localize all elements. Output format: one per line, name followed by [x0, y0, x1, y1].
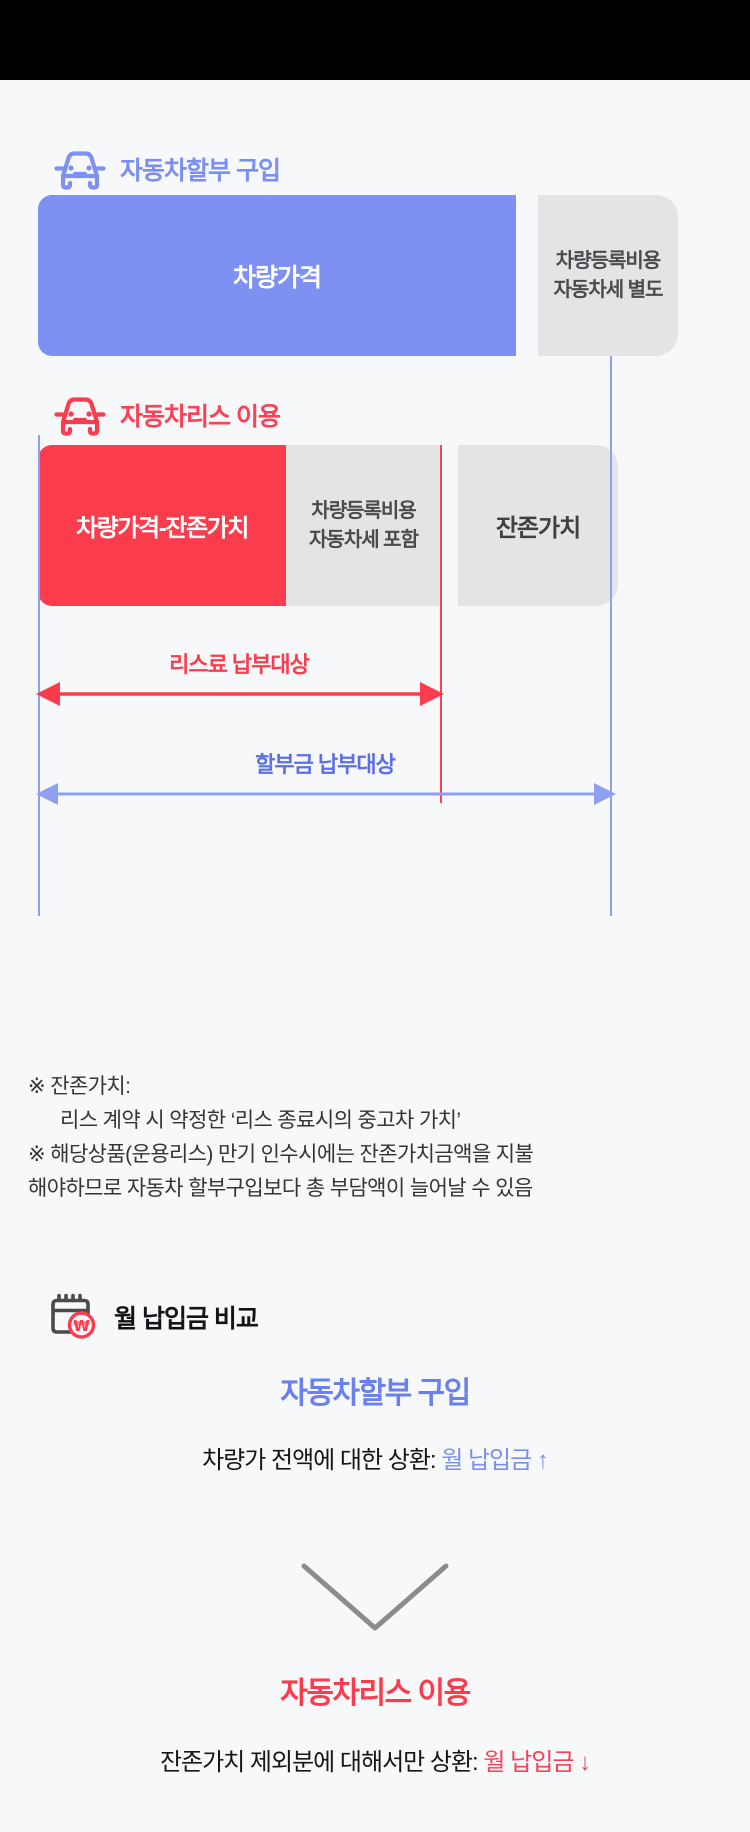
chevron-down-icon [296, 1558, 454, 1638]
car-front-icon [48, 392, 110, 438]
car-headlight-left-icon [68, 411, 73, 416]
bar-registration-tax-separate: 차량등록비용 자동차세 별도 [538, 195, 678, 356]
note-maturity-line1: ※ 해당상품(운용리스) 만기 인수시에는 잔존가치금액을 지불 [28, 1138, 728, 1172]
section-header-lease: 자동차리스 이용 [48, 392, 280, 438]
car-headlight-right-icon [86, 411, 91, 416]
bar-registration-tax-separate-line1: 차량등록비용 [556, 248, 660, 274]
infographic-canvas: 자동차할부 구입 차량가격 차량등록비용 자동차세 별도 [0, 80, 750, 1832]
monthly-installment-prefix: 차량가 전액에 대한 상환: [202, 1447, 441, 1474]
bar-residual-value: 잔존가치 [458, 445, 618, 606]
section-title-lease: 자동차리스 이용 [120, 397, 280, 433]
range-arrow-installment-payment [34, 777, 618, 811]
bar-residual-value-label: 잔존가치 [496, 508, 580, 543]
range-label-installment-payment: 할부금 납부대상 [0, 747, 650, 779]
won-symbol-icon: ₩ [73, 1317, 90, 1335]
footnotes: ※ 잔존가치: 리스 계약 시 약정한 ‘리스 종료시의 중고차 가치’ ※ 해… [28, 1070, 728, 1206]
bar-vehicle-price-label: 차량가격 [233, 258, 321, 294]
monthly-lease-title: 자동차리스 이용 [0, 1668, 750, 1712]
monthly-lease-prefix: 잔존가치 제외분에 대해서만 상환: [160, 1749, 483, 1776]
calendar-won-icon: ₩ [48, 1292, 100, 1342]
monthly-lease-accent: 월 납입금 ↓ [483, 1749, 590, 1776]
monthly-installment-title: 자동차할부 구입 [0, 1368, 750, 1412]
car-headlight-left-icon [68, 165, 73, 170]
monthly-installment-accent: 월 납입금 ↑ [441, 1447, 548, 1474]
car-headlight-right-icon [86, 165, 91, 170]
bar-price-minus-residual-label: 차량가격-잔존가치 [76, 508, 248, 543]
monthly-lease-line: 잔존가치 제외분에 대해서만 상환: 월 납입금 ↓ [0, 1742, 750, 1777]
monthly-installment-line: 차량가 전액에 대한 상환: 월 납입금 ↑ [0, 1440, 750, 1475]
car-front-icon [48, 146, 110, 192]
bar-registration-tax-included-line2: 자동차세 포함 [309, 527, 418, 553]
section-header-monthly-compare: ₩ 월 납입금 비교 [48, 1292, 258, 1342]
bar-vehicle-price: 차량가격 [38, 195, 516, 356]
section-title-installment: 자동차할부 구입 [120, 151, 280, 187]
monthly-compare-title: 월 납입금 비교 [114, 1299, 258, 1335]
top-black-bar [0, 0, 750, 80]
bar-registration-tax-included-line1: 차량등록비용 [311, 498, 415, 524]
guide-line-right-blue [610, 356, 612, 916]
range-arrow-lease-payment [34, 677, 446, 711]
note-maturity-line2: 해야하므로 자동차 할부구입보다 총 부담액이 늘어날 수 있음 [28, 1172, 728, 1206]
bar-registration-tax-separate-line2: 자동차세 별도 [554, 277, 663, 303]
note-residual-def: 리스 계약 시 약정한 ‘리스 종료시의 중고차 가치’ [28, 1104, 728, 1138]
page-root: 자동차할부 구입 차량가격 차량등록비용 자동차세 별도 [0, 0, 750, 1832]
note-residual-term: ※ 잔존가치: [28, 1070, 728, 1104]
section-header-installment: 자동차할부 구입 [48, 146, 280, 192]
bar-price-minus-residual: 차량가격-잔존가치 [38, 445, 286, 606]
bar-registration-tax-included: 차량등록비용 자동차세 포함 [286, 445, 441, 606]
range-label-lease-payment: 리스료 납부대상 [0, 647, 478, 679]
